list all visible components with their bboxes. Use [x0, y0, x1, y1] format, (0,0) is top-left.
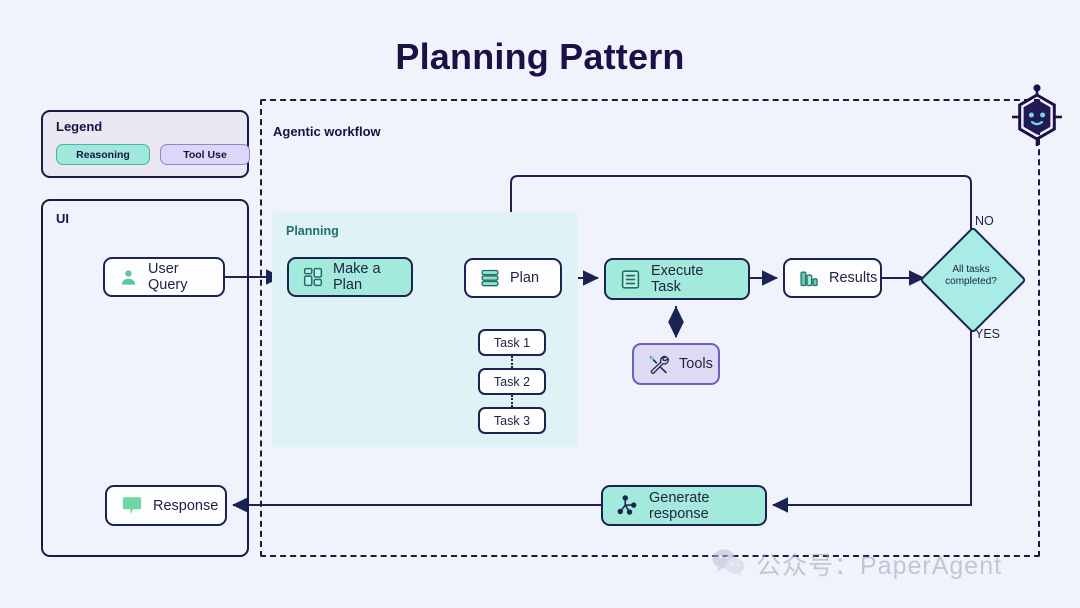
decision-all-tasks-completed[interactable]: All tasks completed?: [925, 232, 1017, 324]
decision-label: All tasks completed?: [925, 264, 1017, 288]
task-item[interactable]: Task 1: [478, 329, 546, 356]
decision-label-line1: All tasks: [925, 264, 1017, 276]
node-plan[interactable]: Plan: [464, 258, 562, 298]
page-title: Planning Pattern: [0, 36, 1080, 78]
node-graph-icon: [617, 495, 639, 517]
ui-panel-title: UI: [56, 211, 69, 226]
node-label: Execute Task: [651, 263, 734, 295]
robot-head-icon: [1008, 84, 1066, 150]
node-user-query[interactable]: User Query: [103, 257, 225, 297]
task-connector: [511, 395, 513, 407]
node-results[interactable]: Results: [783, 258, 882, 298]
branch-label-yes: YES: [975, 327, 1000, 341]
planning-region-title: Planning: [286, 224, 339, 238]
node-make-a-plan[interactable]: Make a Plan: [287, 257, 413, 297]
node-label: Results: [829, 270, 877, 286]
grid-blocks-icon: [303, 267, 323, 287]
legend-panel: Legend Reasoning Tool Use: [41, 110, 249, 178]
agentic-workflow-title: Agentic workflow: [273, 124, 381, 139]
node-label: Generate response: [649, 490, 751, 522]
speech-bubble-icon: [121, 496, 143, 516]
node-label: Make a Plan: [333, 261, 397, 293]
task-connector: [511, 356, 513, 368]
task-item[interactable]: Task 2: [478, 368, 546, 395]
branch-label-no: NO: [975, 214, 994, 228]
bar-chart-icon: [799, 268, 819, 288]
node-tools[interactable]: Tools: [632, 343, 720, 385]
document-lines-icon: [620, 269, 641, 290]
stacked-layers-icon: [480, 268, 500, 288]
node-execute-task[interactable]: Execute Task: [604, 258, 750, 300]
legend-chip-reasoning: Reasoning: [56, 144, 150, 165]
user-icon: [119, 268, 138, 287]
legend-title: Legend: [56, 119, 102, 134]
legend-chip-tool-use: Tool Use: [160, 144, 250, 165]
decision-label-line2: completed?: [925, 276, 1017, 288]
node-label: Response: [153, 498, 218, 514]
node-label: User Query: [148, 261, 209, 293]
node-label: Plan: [510, 270, 539, 286]
diagram-canvas: Planning Pattern Legend Reasoning Tool U…: [0, 0, 1080, 608]
task-item[interactable]: Task 3: [478, 407, 546, 434]
wrench-screwdriver-icon: [648, 354, 669, 375]
watermark: 公众号：PaperAgent: [712, 544, 1052, 584]
node-generate-response[interactable]: Generate response: [601, 485, 767, 526]
node-label: Tools: [679, 356, 713, 372]
wechat-icon: [712, 547, 746, 582]
watermark-text: 公众号：PaperAgent: [756, 546, 1002, 582]
node-response[interactable]: Response: [105, 485, 227, 526]
